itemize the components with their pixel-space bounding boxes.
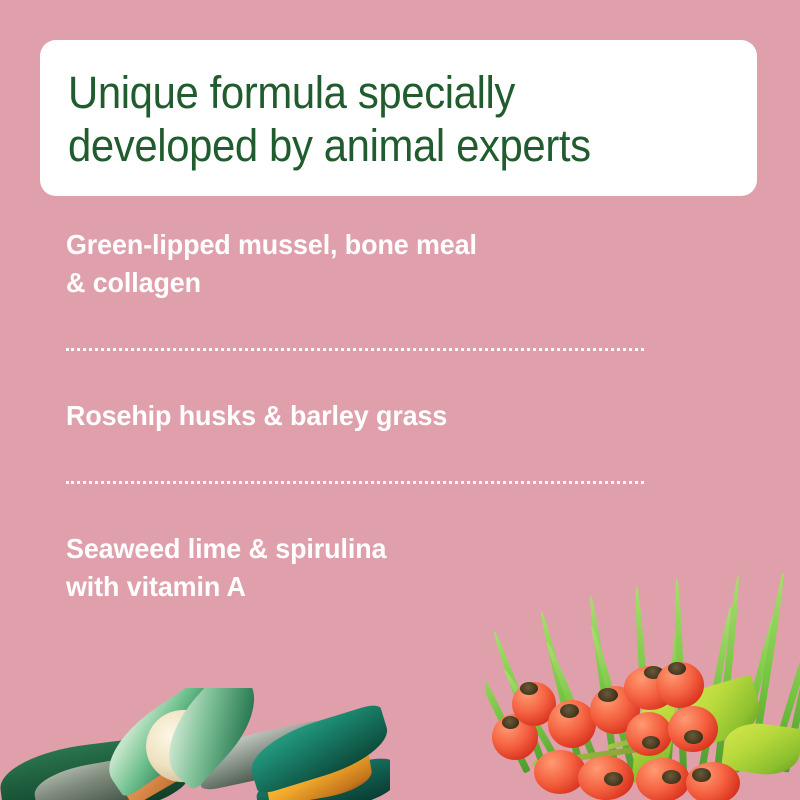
rosehip-calyx <box>668 662 686 675</box>
dotted-divider <box>66 481 644 484</box>
dotted-divider <box>66 348 644 351</box>
list-item: Rosehip husks & barley grass <box>66 397 666 435</box>
spacer <box>66 484 666 530</box>
spacer <box>66 435 666 481</box>
ingredient-list: Green-lipped mussel, bone meal & collage… <box>66 226 666 606</box>
rosehip-calyx <box>520 682 538 695</box>
heading-card: Unique formula specially developed by an… <box>40 40 757 196</box>
spacer <box>66 302 666 348</box>
rosehip-calyx <box>662 770 681 784</box>
rosehip-calyx <box>598 688 618 702</box>
ingredient-label: Green-lipped mussel, bone meal & collage… <box>66 226 642 302</box>
product-benefits-poster: Unique formula specially developed by an… <box>0 0 800 800</box>
rosehip-berry <box>686 762 740 800</box>
ingredient-label: Rosehip husks & barley grass <box>66 397 642 435</box>
rosehip-and-barley-grass-image <box>486 566 800 800</box>
list-item: Green-lipped mussel, bone meal & collage… <box>66 226 666 302</box>
rosehip-calyx <box>684 730 703 744</box>
green-lipped-mussel-image <box>0 688 390 800</box>
rosehip-berry <box>626 712 672 756</box>
rosehip-calyx <box>604 772 623 786</box>
spacer <box>66 351 666 397</box>
rosehip-calyx <box>560 704 579 718</box>
page-title: Unique formula specially developed by an… <box>68 66 681 172</box>
rosehip-calyx <box>642 736 660 749</box>
rosehip-berry <box>668 706 718 752</box>
rosehip-calyx <box>692 768 711 782</box>
